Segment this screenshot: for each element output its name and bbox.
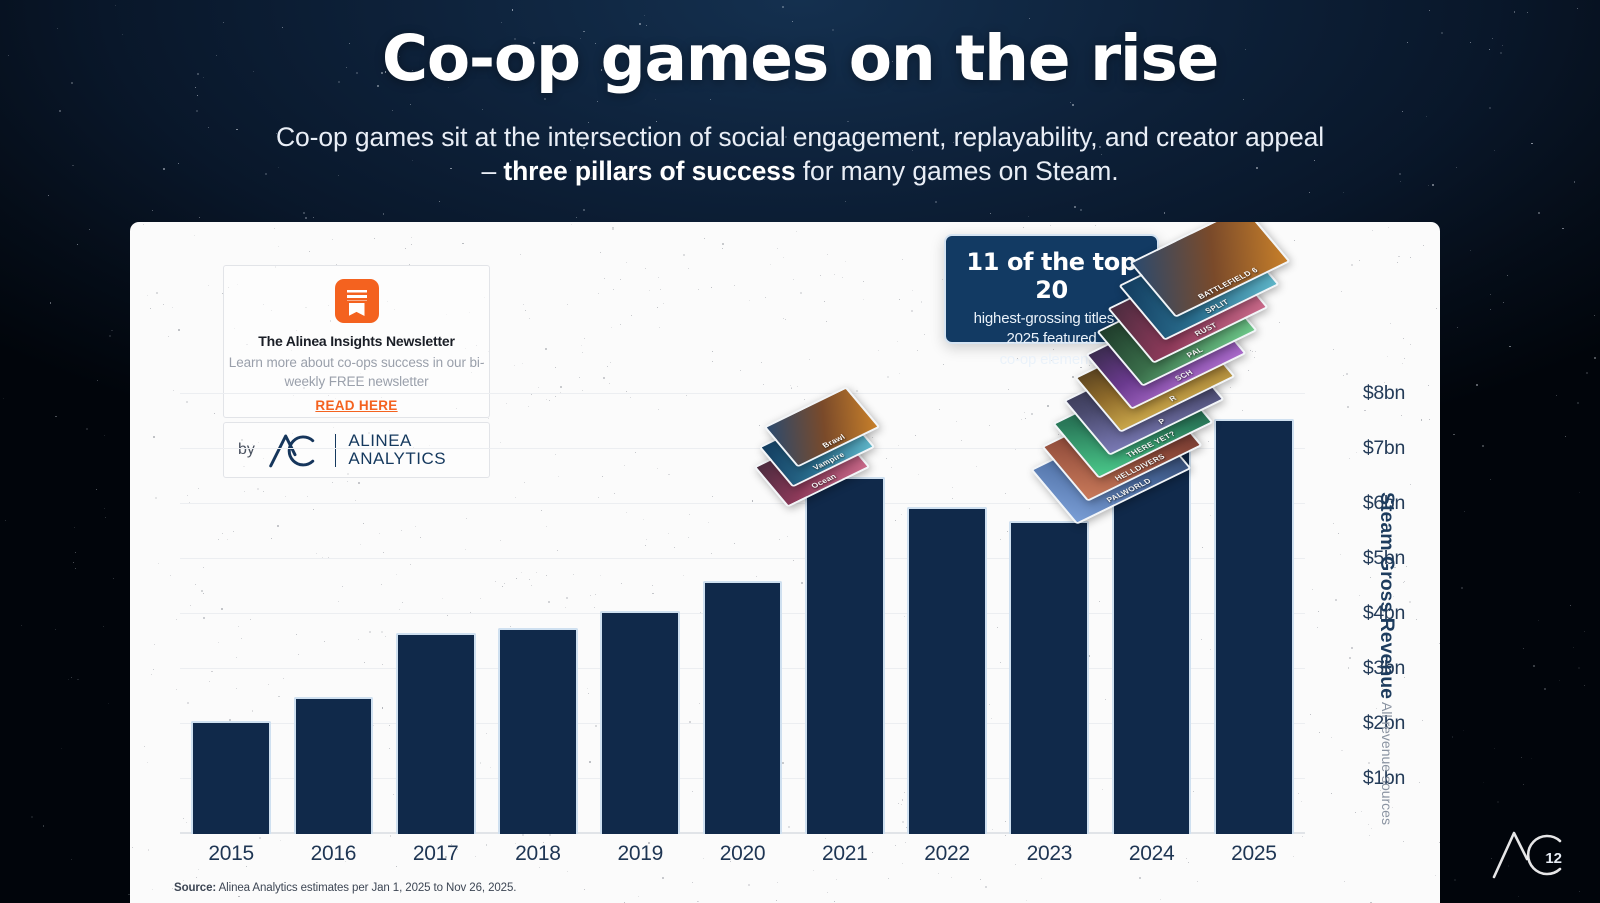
page-title: Co-op games on the rise xyxy=(0,26,1600,92)
bar-2017[interactable] xyxy=(396,633,476,834)
x-axis-label-2015: 2015 xyxy=(180,842,282,866)
x-axis-label-2025: 2025 xyxy=(1203,842,1305,866)
y-tick-$7bn: $7bn xyxy=(1363,437,1405,460)
callout-box: 11 of the top 20 highest-grossing titles… xyxy=(944,234,1159,344)
chart-panel: The Alinea Insights Newsletter Learn mor… xyxy=(130,222,1440,903)
x-axis-label-2019: 2019 xyxy=(589,842,691,866)
x-axis-label-2018: 2018 xyxy=(487,842,589,866)
bar-chart-plot: 2015201620172018201920202021202220232024… xyxy=(180,372,1305,834)
subtitle-emphasis: three pillars of success xyxy=(503,156,795,186)
callout-body-line-1: highest-grossing titles in xyxy=(974,310,1130,327)
callout-arrow-icon xyxy=(1165,228,1225,264)
y-axis-title-main: Steam Gross Revenue xyxy=(1375,492,1398,699)
y-axis-title: Steam Gross Revenue All revenue sources xyxy=(1354,492,1398,702)
x-axis-label-2023: 2023 xyxy=(998,842,1100,866)
bar-2024[interactable] xyxy=(1112,444,1192,835)
source-text: Alinea Analytics estimates per Jan 1, 20… xyxy=(216,882,516,894)
newsletter-title: The Alinea Insights Newsletter xyxy=(224,333,489,349)
x-axis-label-2021: 2021 xyxy=(794,842,896,866)
x-axis-label-2024: 2024 xyxy=(1101,842,1203,866)
x-axis-label-2016: 2016 xyxy=(282,842,384,866)
bar-2021[interactable] xyxy=(805,477,885,835)
source-note: Source: Alinea Analytics estimates per J… xyxy=(174,882,516,894)
subtitle-line-2-tail: for many games on Steam. xyxy=(796,156,1119,186)
bar-2023[interactable] xyxy=(1009,521,1089,835)
y-tick-$8bn: $8bn xyxy=(1363,382,1405,405)
y-axis-title-sub: All revenue sources xyxy=(1379,702,1395,825)
x-axis-label-2020: 2020 xyxy=(691,842,793,866)
callout-headline: 11 of the top 20 xyxy=(956,248,1147,304)
bar-2020[interactable] xyxy=(703,581,783,834)
bar-2016[interactable] xyxy=(294,697,374,835)
callout-body-line-2: 2025 featured xyxy=(1007,330,1097,347)
bar-2022[interactable] xyxy=(907,507,987,834)
subtitle-line-1: Co-op games sit at the intersection of s… xyxy=(276,122,1324,152)
newsletter-bookmark-icon xyxy=(335,279,379,323)
x-axis-label-2022: 2022 xyxy=(896,842,998,866)
callout-body: highest-grossing titles in 2025 featured… xyxy=(956,309,1147,370)
bar-2019[interactable] xyxy=(600,611,680,834)
bar-2025[interactable] xyxy=(1214,419,1294,834)
bar-2015[interactable] xyxy=(191,721,271,834)
gridline-$8bn xyxy=(180,393,1305,394)
callout-body-line-3: co-op elements. xyxy=(1000,351,1104,368)
bar-2018[interactable] xyxy=(498,628,578,834)
x-axis-label-2017: 2017 xyxy=(385,842,487,866)
subtitle-dash: – xyxy=(481,156,503,186)
source-label: Source: xyxy=(174,882,216,894)
slide-root: Co-op games on the rise Co-op games sit … xyxy=(0,0,1600,903)
page-number: 12 xyxy=(1545,850,1562,867)
page-badge-ac-logo-icon xyxy=(1484,823,1580,885)
page-subtitle: Co-op games sit at the intersection of s… xyxy=(210,120,1390,189)
